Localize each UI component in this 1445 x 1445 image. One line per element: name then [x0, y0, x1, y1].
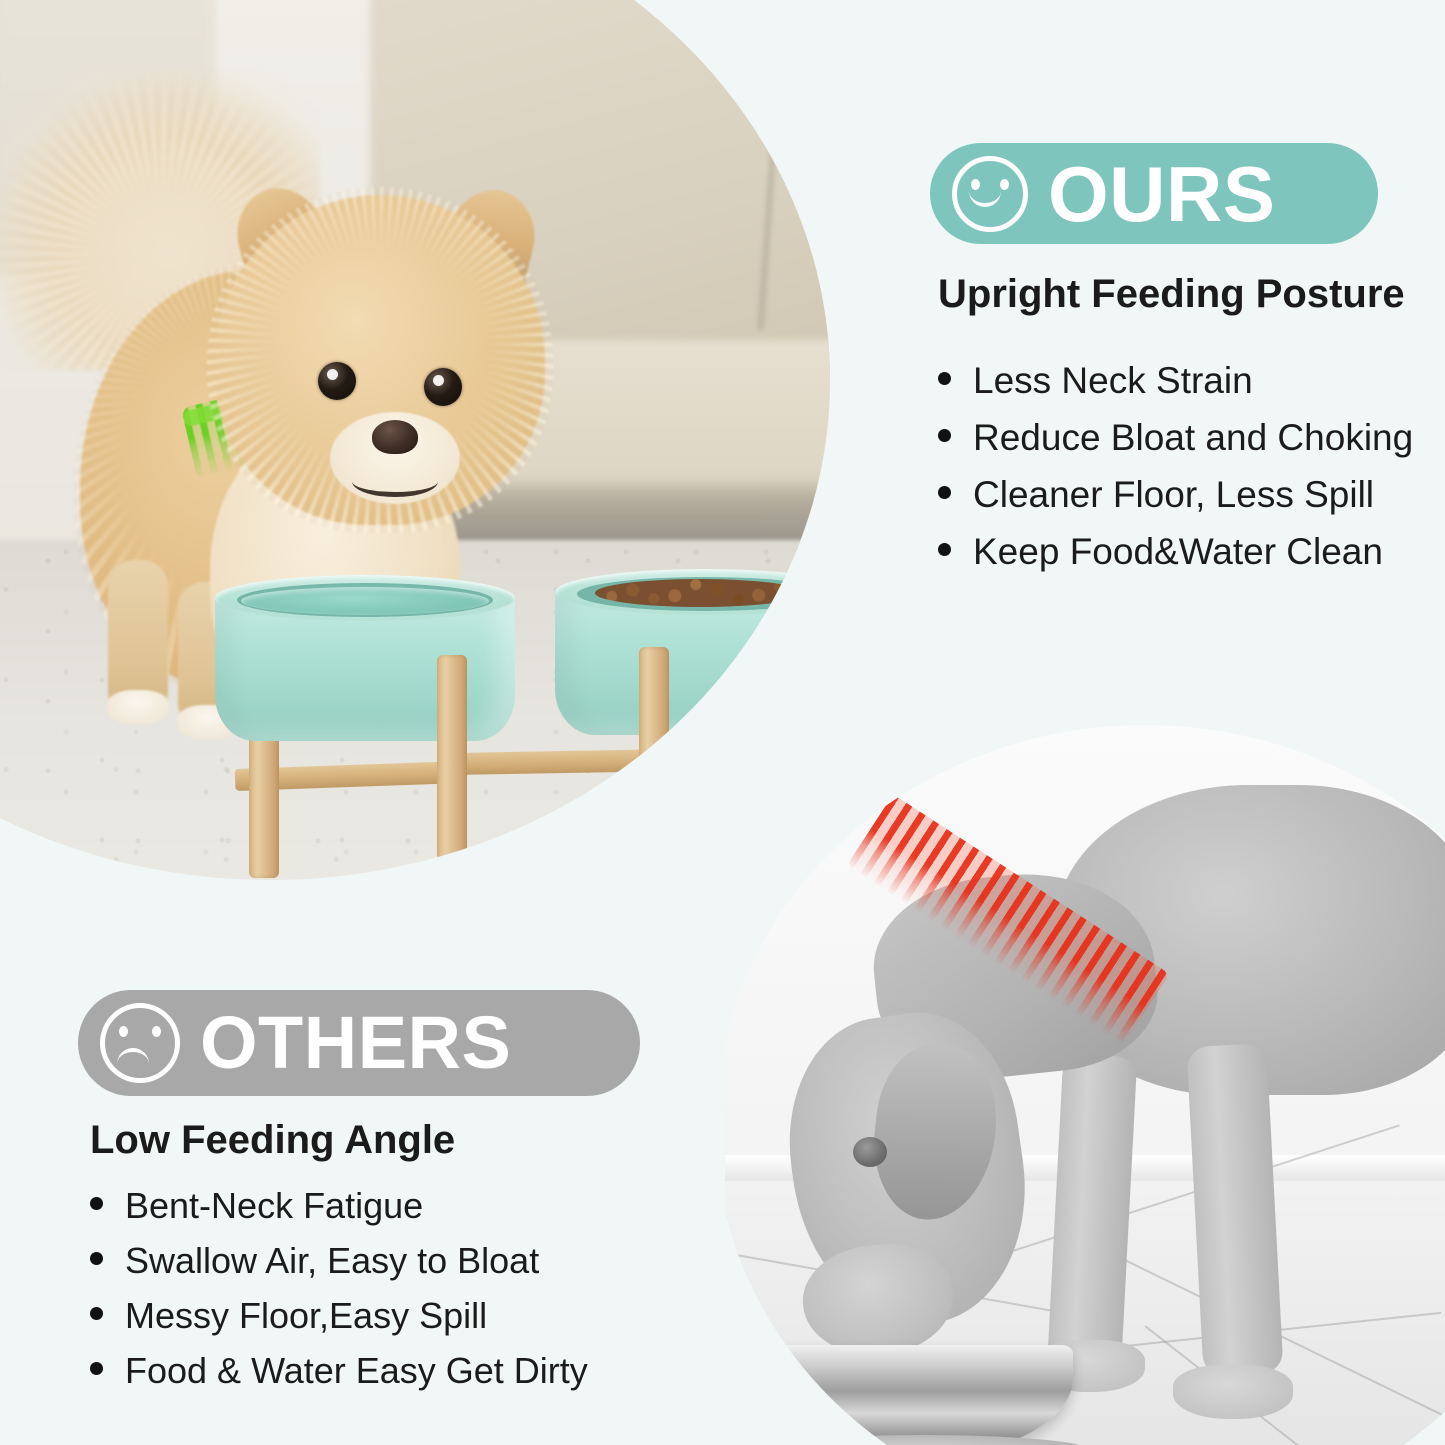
- list-item: Messy Floor,Easy Spill: [90, 1298, 588, 1334]
- eye-left: [119, 1026, 128, 1037]
- bullet-dot-icon: [90, 1252, 103, 1265]
- water-bowl: [215, 591, 515, 741]
- bowl-water: [241, 587, 489, 615]
- dog-paw-left: [107, 690, 169, 724]
- elevated-bowl-set: [215, 585, 875, 895]
- ours-heading: Upright Feeding Posture: [938, 272, 1405, 317]
- others-badge: OTHERS: [78, 990, 640, 1096]
- ours-badge: OURS: [930, 143, 1378, 244]
- stand-leg: [437, 655, 467, 860]
- list-item: Swallow Air, Easy to Bloat: [90, 1243, 588, 1279]
- bullet-dot-icon: [90, 1197, 103, 1210]
- eye-right: [152, 1026, 161, 1037]
- dog-front-leg-left: [108, 560, 168, 710]
- list-item-label: Bent-Neck Fatigue: [125, 1188, 423, 1224]
- stand-leg: [639, 647, 669, 857]
- list-item: Food & Water Easy Get Dirty: [90, 1353, 588, 1389]
- list-item: Less Neck Strain: [938, 362, 1413, 399]
- pomeranian-with-elevated-bowls-photo: [0, 0, 890, 940]
- others-badge-label: OTHERS: [200, 1006, 511, 1080]
- dog-eye-left: [318, 362, 356, 400]
- list-item-label: Swallow Air, Easy to Bloat: [125, 1243, 539, 1279]
- stand-rail: [647, 758, 848, 787]
- comparison-infographic: OURS Upright Feeding Posture Less Neck S…: [0, 0, 1445, 1445]
- dog-mouth: [352, 466, 438, 497]
- bullet-dot-icon: [938, 372, 951, 385]
- list-item-label: Food & Water Easy Get Dirty: [125, 1353, 588, 1389]
- list-item-label: Reduce Bloat and Choking: [973, 419, 1413, 456]
- bullet-dot-icon: [938, 543, 951, 556]
- dog-eye: [853, 1137, 887, 1167]
- bullet-dot-icon: [938, 429, 951, 442]
- stand-rail: [451, 749, 681, 775]
- list-item-label: Messy Floor,Easy Spill: [125, 1298, 487, 1334]
- list-item: Keep Food&Water Clean: [938, 533, 1413, 570]
- smiley-face-icon: [952, 156, 1028, 232]
- list-item-label: Cleaner Floor, Less Spill: [973, 476, 1374, 513]
- bullet-dot-icon: [90, 1307, 103, 1320]
- list-item-label: Keep Food&Water Clean: [973, 533, 1383, 570]
- list-item: Cleaner Floor, Less Spill: [938, 476, 1413, 513]
- list-item: Bent-Neck Fatigue: [90, 1188, 588, 1224]
- dog-paw: [1173, 1365, 1293, 1419]
- bullet-dot-icon: [938, 486, 951, 499]
- food-bowl: [555, 585, 855, 735]
- frowning-face-icon: [100, 1003, 180, 1083]
- list-item: Reduce Bloat and Choking: [938, 419, 1413, 456]
- dog-nose: [372, 420, 418, 454]
- bullet-dot-icon: [90, 1362, 103, 1375]
- frown-mouth: [117, 1048, 149, 1066]
- ours-badge-label: OURS: [1048, 155, 1275, 233]
- others-drawbacks-list: Bent-Neck Fatigue Swallow Air, Easy to B…: [90, 1188, 588, 1408]
- room-scene: [0, 0, 890, 940]
- list-item-label: Less Neck Strain: [973, 362, 1253, 399]
- dog-eye-right: [424, 368, 462, 406]
- dog-bending-to-floor-bowl-photo: [725, 725, 1445, 1445]
- stainless-steel-floor-bowl: [773, 1345, 1073, 1445]
- ours-benefits-list: Less Neck Strain Reduce Bloat and Chokin…: [938, 362, 1413, 590]
- smile-mouth: [969, 187, 1001, 207]
- others-heading: Low Feeding Angle: [90, 1118, 455, 1163]
- eye-right: [1000, 179, 1009, 190]
- bowl-kibble: [595, 579, 805, 607]
